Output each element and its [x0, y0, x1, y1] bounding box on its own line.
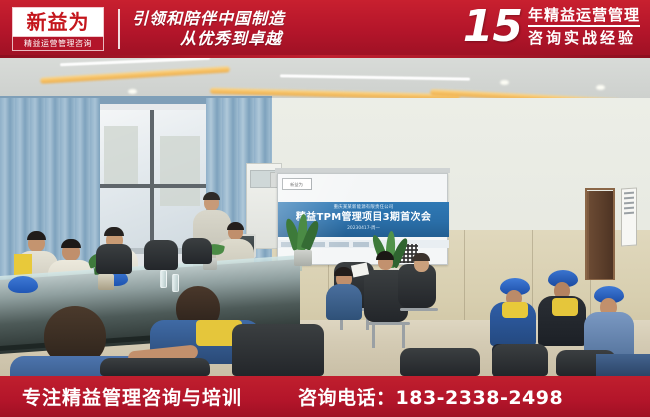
building-outside: [160, 136, 200, 206]
logo-brand-text: 新益为: [12, 7, 104, 37]
years-line-1: 年精益运营管理: [528, 5, 640, 25]
ceiling-downlight: [128, 89, 137, 94]
slogan-line-1: 引领和陪伴中国制造: [132, 9, 285, 29]
foreground-chair: [400, 348, 480, 376]
attendee-hair: [412, 253, 430, 261]
slogan-line-2: 从优秀到卓越: [132, 29, 285, 49]
office-chair: [144, 240, 178, 270]
footer-banner: 专注精益管理咨询与培训 咨询电话：183-2338-2498: [0, 376, 650, 417]
header-banner: 新益为 精益运营管理咨询 引领和陪伴中国制造 从优秀到卓越 15 年精益运营管理…: [0, 0, 650, 58]
attendee-hair: [227, 222, 244, 230]
water-bottle: [172, 274, 179, 292]
chair-leg: [402, 322, 405, 348]
notice-line: [624, 212, 634, 215]
office-chair: [182, 238, 212, 264]
hard-hat: [8, 276, 38, 293]
window-mullion-horizontal: [98, 184, 216, 188]
notice-line: [624, 197, 634, 200]
water-bottle: [160, 270, 167, 288]
company-logo: 新益为 精益运营管理咨询: [12, 6, 104, 52]
header-slogan: 引领和陪伴中国制造 从优秀到卓越: [132, 9, 285, 49]
notice-line: [624, 192, 634, 195]
experience-years-block: 15 年精益运营管理 咨询实战经验: [463, 3, 640, 51]
footer-phone-text: 咨询电话：183-2338-2498: [298, 383, 563, 410]
presenter-hair: [203, 192, 220, 200]
ceiling-downlight: [596, 85, 605, 90]
years-number: 15: [463, 3, 522, 51]
foreground-attendee-body: [596, 354, 650, 376]
notice-line: [624, 207, 634, 210]
foreground-chair: [232, 324, 324, 376]
chair-leg: [372, 322, 375, 348]
office-chair: [96, 244, 132, 274]
safety-vest: [552, 298, 578, 316]
plant-pot: [294, 250, 312, 266]
door: [587, 191, 613, 279]
footer-left-text: 专注精益管理咨询与培训: [22, 383, 242, 410]
meeting-room-photo: 新益为 重庆某某新能源有限责任公司 精益TPM管理项目3期首次会 2023041…: [0, 58, 650, 376]
years-line-2: 咨询实战经验: [528, 27, 640, 49]
building-outside: [104, 126, 138, 184]
plant-pot: [98, 274, 114, 290]
wall-notice-frame: [621, 187, 637, 246]
attendee-body: [326, 284, 362, 320]
logo-tagline-text: 精益运营管理咨询: [12, 37, 104, 51]
ceiling-downlight: [500, 80, 509, 85]
chair-leg: [400, 308, 438, 311]
promo-image-root: 新益为 精益运营管理咨询 引领和陪伴中国制造 从优秀到卓越 15 年精益运营管理…: [0, 0, 650, 417]
waiting-chair: [492, 344, 548, 376]
attendee-hair: [104, 227, 124, 236]
years-text: 年精益运营管理 咨询实战经验: [528, 5, 640, 49]
window-mullion-vertical: [150, 110, 154, 252]
notice-line: [624, 202, 634, 205]
attendee-hair: [61, 239, 81, 248]
header-divider: [118, 9, 120, 49]
safety-vest: [502, 302, 528, 318]
foreground-chair: [100, 358, 210, 376]
